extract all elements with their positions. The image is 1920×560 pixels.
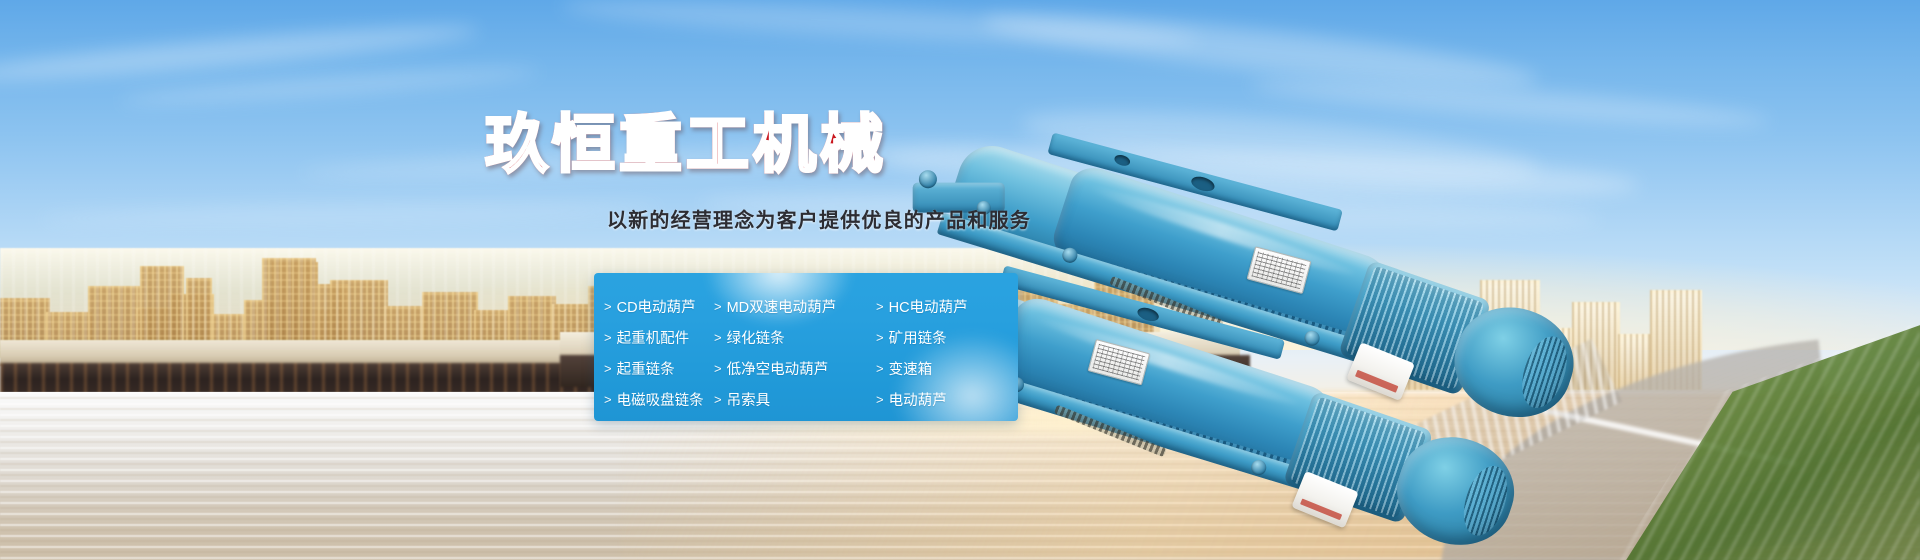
product-link-low-headroom-hoist[interactable]: > 低净空电动葫芦 xyxy=(714,358,854,379)
product-link-label: 矿用链条 xyxy=(889,327,947,348)
product-link-mining-chain[interactable]: > 矿用链条 xyxy=(854,327,1018,348)
product-link-label: CD电动葫芦 xyxy=(617,296,696,317)
product-link-slings[interactable]: > 吊索具 xyxy=(714,389,854,410)
headline-block: 玖恒重工机械 以新的经营理念为客户提供优良的产品和服务 xyxy=(485,112,1125,233)
chevron-right-icon: > xyxy=(604,299,612,314)
hero-banner: 玖恒重工机械 以新的经营理念为客户提供优良的产品和服务 > CD电动葫芦 > M… xyxy=(0,0,1920,560)
product-link-label: 电磁吸盘链条 xyxy=(617,389,704,410)
page-subtitle: 以新的经营理念为客户提供优良的产品和服务 xyxy=(607,204,1125,233)
product-link-label: MD双速电动葫芦 xyxy=(727,296,837,317)
chevron-right-icon: > xyxy=(876,330,884,345)
chevron-right-icon: > xyxy=(604,330,612,345)
product-link-electric-hoist[interactable]: > 电动葫芦 xyxy=(854,389,1018,410)
page-title: 玖恒重工机械 xyxy=(485,112,1125,178)
product-link-label: 变速箱 xyxy=(889,358,933,379)
product-link-label: 吊索具 xyxy=(727,389,771,410)
chevron-right-icon: > xyxy=(714,361,722,376)
junction-box-label xyxy=(1355,370,1398,392)
product-link-greening-chain[interactable]: > 绿化链条 xyxy=(714,327,854,348)
chevron-right-icon: > xyxy=(604,392,612,407)
product-link-label: 低净空电动葫芦 xyxy=(727,358,829,379)
product-link-label: 电动葫芦 xyxy=(889,389,947,410)
chevron-right-icon: > xyxy=(876,361,884,376)
chevron-right-icon: > xyxy=(714,299,722,314)
fan-grill xyxy=(1514,331,1575,413)
product-link-lifting-chain[interactable]: > 起重链条 xyxy=(604,358,714,379)
product-link-gearbox[interactable]: > 变速箱 xyxy=(854,358,1018,379)
product-link-crane-parts[interactable]: > 起重机配件 xyxy=(604,327,714,348)
chevron-right-icon: > xyxy=(604,361,612,376)
product-links-grid: > CD电动葫芦 > MD双速电动葫芦 > HC电动葫芦 > 起重机配件 > 绿… xyxy=(594,273,1018,415)
product-links-panel: > CD电动葫芦 > MD双速电动葫芦 > HC电动葫芦 > 起重机配件 > 绿… xyxy=(594,273,1018,421)
product-link-label: HC电动葫芦 xyxy=(889,296,968,317)
product-link-label: 起重机配件 xyxy=(617,327,690,348)
product-link-cd-hoist[interactable]: > CD电动葫芦 xyxy=(604,296,714,317)
product-link-label: 绿化链条 xyxy=(727,327,785,348)
chevron-right-icon: > xyxy=(714,392,722,407)
product-link-magnetic-chuck-chain[interactable]: > 电磁吸盘链条 xyxy=(604,389,714,410)
chevron-right-icon: > xyxy=(876,392,884,407)
chevron-right-icon: > xyxy=(876,299,884,314)
product-link-hc-hoist[interactable]: > HC电动葫芦 xyxy=(854,296,1018,317)
product-link-md-dual-speed-hoist[interactable]: > MD双速电动葫芦 xyxy=(714,296,854,317)
product-link-label: 起重链条 xyxy=(617,358,675,379)
chevron-right-icon: > xyxy=(714,330,722,345)
